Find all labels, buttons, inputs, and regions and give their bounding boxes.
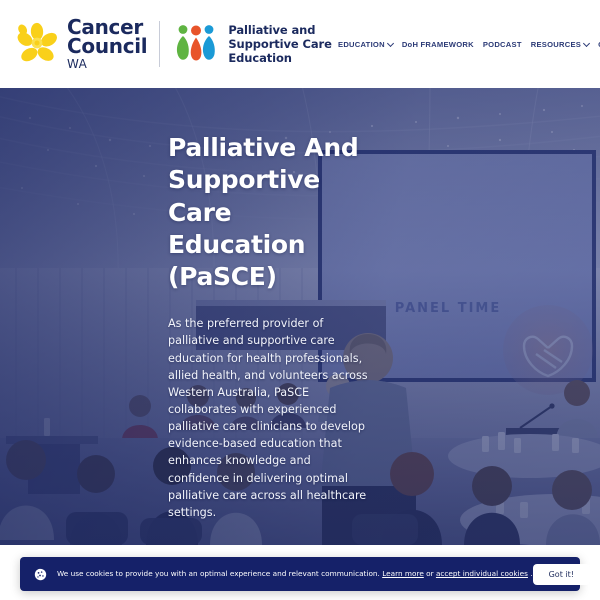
three-people-icon	[172, 20, 220, 68]
nav-label: DoH FRAMEWORK	[402, 40, 474, 49]
hero-title: Palliative And Supportive Care Education…	[168, 132, 368, 293]
got-it-button[interactable]: Got it!	[533, 564, 590, 585]
nav-item-doh-framework[interactable]: DoH FRAMEWORK	[402, 40, 474, 49]
chevron-down-icon	[584, 41, 589, 46]
daffodil-icon	[14, 21, 60, 67]
cc-line-2: Council	[67, 37, 147, 56]
hero-content: Palliative And Supportive Care Education…	[168, 132, 368, 521]
cookie-message: We use cookies to provide you with an op…	[57, 569, 533, 578]
pasce-logo[interactable]: Palliative and Supportive Care Education	[172, 20, 331, 68]
nav-item-resources[interactable]: RESOURCES	[531, 40, 589, 49]
nav-label: EDUCATION	[338, 40, 385, 49]
cookie-or-text: or	[426, 569, 433, 578]
main-navigation: EDUCATION DoH FRAMEWORK PODCAST RESOURCE…	[338, 40, 600, 49]
hero-banner: PANEL TIME	[0, 88, 600, 545]
pasce-wordmark: Palliative and Supportive Care Education	[228, 23, 331, 65]
site-header: Cancer Council WA Palliative and Support…	[0, 0, 600, 88]
pasce-line-1: Palliative and	[228, 23, 331, 37]
nav-item-podcast[interactable]: PODCAST	[483, 40, 522, 49]
chevron-down-icon	[388, 41, 393, 46]
brand-block: Cancer Council WA Palliative and Support…	[0, 18, 332, 71]
pasce-line-2: Supportive Care	[228, 37, 331, 51]
cc-state-label: WA	[67, 59, 147, 71]
nav-label: PODCAST	[483, 40, 522, 49]
cancer-council-wordmark: Cancer Council WA	[67, 18, 147, 71]
nav-item-education[interactable]: EDUCATION	[338, 40, 393, 49]
nav-label: RESOURCES	[531, 40, 581, 49]
cookie-consent-banner: We use cookies to provide you with an op…	[20, 557, 580, 591]
accept-individual-cookies-link[interactable]: accept individual cookies	[436, 569, 528, 578]
cancer-council-logo[interactable]: Cancer Council WA	[14, 18, 147, 71]
hero-description: As the preferred provider of palliative …	[168, 315, 368, 521]
cookie-icon	[34, 568, 47, 581]
learn-more-link[interactable]: Learn more	[382, 569, 424, 578]
brand-divider	[159, 21, 160, 67]
pasce-line-3: Education	[228, 51, 331, 65]
cookie-message-text: We use cookies to provide you with an op…	[57, 569, 380, 578]
